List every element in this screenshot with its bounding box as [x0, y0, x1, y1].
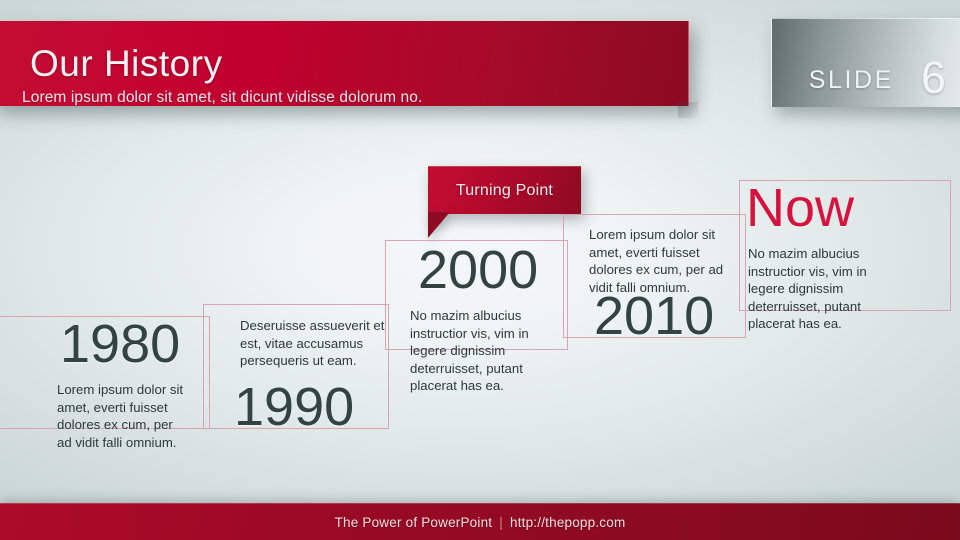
timeline-text-1990: Deseruisse assueverit et est, vitae accu…: [240, 317, 392, 370]
callout-tail-icon: [428, 212, 450, 238]
page-subtitle: Lorem ipsum dolor sit amet, sit dicunt v…: [22, 89, 422, 107]
timeline-text-now: No mazim albucius instructior vis, vim i…: [748, 245, 886, 333]
timeline-year-1990: 1990: [234, 376, 354, 438]
slide-number: 6: [921, 52, 946, 104]
timeline-year-1980: 1980: [60, 313, 180, 375]
footer-url[interactable]: http://thepopp.com: [510, 515, 625, 530]
header-banner: Our History Lorem ipsum dolor sit amet, …: [0, 21, 689, 106]
timeline-year-2010: 2010: [594, 285, 714, 347]
timeline-year-2000: 2000: [418, 239, 538, 301]
footer-text: The Power of PowerPoint | http://thepopp…: [0, 504, 960, 540]
turning-point-callout: Turning Point: [428, 166, 581, 214]
turning-point-label: Turning Point: [428, 167, 581, 214]
footer-brand: The Power of PowerPoint: [335, 515, 493, 530]
slide-label: SLIDE: [809, 66, 894, 95]
footer-bar: The Power of PowerPoint | http://thepopp…: [0, 503, 960, 540]
page-title: Our History: [30, 43, 223, 85]
footer-separator: |: [499, 515, 503, 530]
timeline-year-now: Now: [746, 177, 854, 239]
timeline-text-1980: Lorem ipsum dolor sit amet, everti fuiss…: [57, 381, 189, 451]
timeline-text-2000: No mazim albucius instructior vis, vim i…: [410, 307, 546, 395]
slide-number-badge: SLIDE 6: [771, 18, 960, 107]
slide-canvas: Our History Lorem ipsum dolor sit amet, …: [0, 0, 960, 540]
